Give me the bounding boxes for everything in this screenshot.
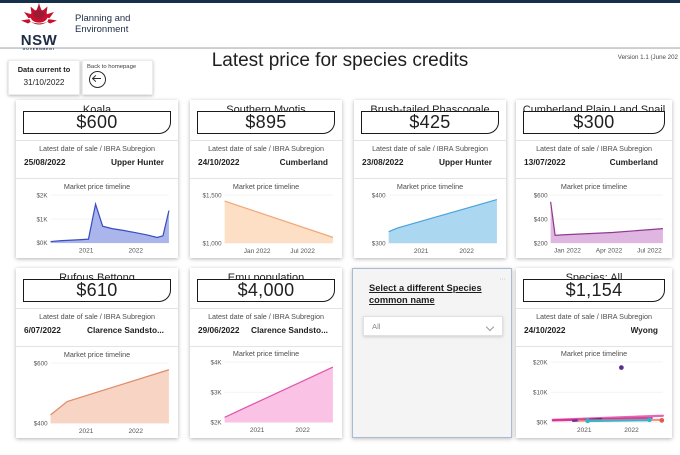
back-to-homepage-button[interactable]: Back to homepage [82, 60, 153, 95]
species-price-value: $610 [76, 280, 117, 301]
species-price-box: $610 [23, 279, 171, 302]
svg-text:$2K: $2K [210, 420, 222, 427]
species-card[interactable]: Brush-tailed Phascogale$425Latest date o… [354, 100, 506, 258]
svg-text:$200: $200 [534, 240, 548, 247]
svg-text:2021: 2021 [577, 427, 592, 434]
sale-row: 24/10/2022Wyong [516, 321, 672, 340]
department-line-1: Planning and [75, 13, 130, 24]
sale-date: 6/07/2022 [24, 325, 61, 335]
data-current-value: 31/10/2022 [9, 78, 79, 87]
svg-text:$10K: $10K [533, 390, 548, 397]
svg-text:Jul 2022: Jul 2022 [637, 247, 662, 254]
species-price-box: $1,154 [523, 279, 665, 302]
species-selector-panel[interactable]: ⋯ Select a different Species common name… [352, 268, 512, 438]
svg-text:2021: 2021 [79, 247, 94, 254]
sale-section-header: Latest date of sale / IBRA Subregion [516, 308, 672, 321]
chart-section-header: Market price timeline [190, 179, 342, 192]
svg-text:$0K: $0K [36, 240, 48, 247]
nsw-wordmark: NSW [21, 35, 58, 46]
species-card-title: Cumberland Plain Land Snail [516, 100, 672, 111]
svg-text:Jul 2022: Jul 2022 [290, 247, 315, 254]
ibra-subregion: Clarence Sandsto... [87, 325, 164, 335]
market-price-chart: $0K$10K$20K20212022 [516, 359, 672, 438]
chart-section-header: Market price timeline [354, 179, 506, 192]
sale-date: 25/08/2022 [24, 157, 66, 167]
svg-text:Jan 2022: Jan 2022 [244, 247, 271, 254]
svg-text:$20K: $20K [533, 360, 548, 367]
chevron-down-icon[interactable] [487, 324, 494, 328]
species-price-value: $895 [245, 112, 286, 133]
svg-text:$400: $400 [534, 216, 548, 223]
waratah-icon [17, 0, 61, 34]
species-card[interactable]: Emu population$4,000Latest date of sale … [190, 268, 342, 438]
sale-row: 25/08/2022Upper Hunter [16, 153, 178, 172]
svg-text:2022: 2022 [129, 427, 144, 434]
chart-section-header: Market price timeline [16, 347, 178, 360]
circle-left-arrow-icon[interactable] [89, 71, 106, 88]
market-price-chart: $200$400$600Jan 2022Apr 2022Jul 2022 [516, 192, 672, 258]
svg-text:$600: $600 [534, 192, 548, 199]
species-price-value: $4,000 [238, 280, 295, 301]
sale-section-header: Latest date of sale / IBRA Subregion [516, 140, 672, 153]
svg-text:$0K: $0K [536, 420, 548, 427]
sale-date: 24/10/2022 [198, 157, 240, 167]
sale-date: 24/10/2022 [524, 325, 566, 335]
sale-section-header: Latest date of sale / IBRA Subregion [16, 140, 178, 153]
species-price-value: $300 [573, 112, 614, 133]
sale-date: 13/07/2022 [524, 157, 566, 167]
svg-text:2022: 2022 [459, 247, 474, 254]
sale-row: 6/07/2022Clarence Sandsto... [16, 321, 178, 340]
sale-row: 29/06/2022Clarence Sandsto... [190, 321, 342, 340]
svg-text:2022: 2022 [624, 427, 639, 434]
ibra-subregion: Clarence Sandsto... [251, 325, 328, 335]
species-price-value: $600 [76, 112, 117, 133]
sale-date: 29/06/2022 [198, 325, 240, 335]
species-price-box: $425 [361, 111, 499, 134]
species-card-title: Brush-tailed Phascogale [354, 100, 506, 111]
species-dropdown[interactable]: All [363, 316, 503, 336]
header-divider [0, 47, 680, 48]
species-card-title: Species: All [516, 268, 672, 279]
sale-row: 13/07/2022Cumberland [516, 153, 672, 172]
svg-text:Jan 2022: Jan 2022 [554, 247, 581, 254]
chart-section-header: Market price timeline [516, 346, 672, 359]
svg-text:$3K: $3K [210, 390, 222, 397]
sale-section-header: Latest date of sale / IBRA Subregion [354, 140, 506, 153]
species-price-value: $425 [409, 112, 450, 133]
svg-text:2021: 2021 [414, 247, 429, 254]
brand-bar: NSW GOVERNMENT Planning and Environment [0, 0, 680, 49]
svg-text:2022: 2022 [295, 427, 310, 434]
data-current-label: Data current to [9, 65, 79, 74]
sale-row: 23/08/2022Upper Hunter [354, 153, 506, 172]
species-card[interactable]: Species: All$1,154Latest date of sale / … [516, 268, 672, 438]
species-selector-label: Select a different Species common name [369, 282, 494, 306]
species-price-box: $600 [23, 111, 171, 134]
species-card[interactable]: Southern Myotis$895Latest date of sale /… [190, 100, 342, 258]
market-price-chart: $2K$3K$4K20212022 [190, 359, 342, 438]
market-price-chart: $400$60020212022 [16, 360, 178, 438]
species-card-title: Southern Myotis [190, 100, 342, 111]
svg-text:2022: 2022 [129, 247, 144, 254]
svg-text:$1,500: $1,500 [203, 192, 223, 199]
nsw-logo: NSW GOVERNMENT [17, 0, 61, 52]
ibra-subregion: Cumberland [280, 157, 328, 167]
panel-more-options-icon[interactable]: ⋯ [500, 276, 507, 283]
species-card[interactable]: Koala$600Latest date of sale / IBRA Subr… [16, 100, 178, 258]
department-line-2: Environment [75, 24, 130, 35]
species-card-title: Emu population [190, 268, 342, 279]
department-name: Planning and Environment [75, 13, 130, 35]
chart-section-header: Market price timeline [516, 179, 672, 192]
species-card-title: Koala [16, 100, 178, 111]
svg-text:$400: $400 [372, 192, 386, 199]
svg-text:$600: $600 [34, 360, 48, 367]
svg-text:$1,000: $1,000 [203, 240, 223, 247]
svg-text:$400: $400 [34, 420, 48, 427]
species-price-value: $1,154 [566, 280, 623, 301]
species-price-box: $895 [197, 111, 335, 134]
ibra-subregion: Wyong [631, 325, 659, 335]
back-to-homepage-label: Back to homepage [87, 64, 152, 70]
species-card[interactable]: Cumberland Plain Land Snail$300Latest da… [516, 100, 672, 258]
svg-text:Apr 2022: Apr 2022 [596, 247, 623, 254]
sale-date: 23/08/2022 [362, 157, 404, 167]
version-label: Version 1.1 (June 202 [618, 54, 678, 61]
species-price-box: $300 [523, 111, 665, 134]
sale-section-header: Latest date of sale / IBRA Subregion [190, 308, 342, 321]
svg-text:$300: $300 [372, 240, 386, 247]
market-price-chart: $300$40020212022 [354, 192, 506, 258]
species-card-title: Rufous Bettong [16, 268, 178, 279]
species-card[interactable]: Rufous Bettong$610Latest date of sale / … [16, 268, 178, 438]
svg-text:$1K: $1K [36, 216, 48, 223]
market-price-chart: $1,000$1,500Jan 2022Jul 2022 [190, 192, 342, 258]
ibra-subregion: Upper Hunter [439, 157, 492, 167]
ibra-subregion: Upper Hunter [111, 157, 164, 167]
svg-text:2021: 2021 [250, 427, 265, 434]
species-price-box: $4,000 [197, 279, 335, 302]
species-dropdown-value: All [372, 322, 380, 331]
data-current-card: Data current to 31/10/2022 [8, 60, 80, 95]
sale-section-header: Latest date of sale / IBRA Subregion [16, 308, 178, 321]
svg-text:$4K: $4K [210, 360, 222, 367]
sale-section-header: Latest date of sale / IBRA Subregion [190, 140, 342, 153]
chart-section-header: Market price timeline [16, 179, 178, 192]
svg-text:$2K: $2K [36, 192, 48, 199]
svg-text:2021: 2021 [79, 427, 94, 434]
ibra-subregion: Cumberland [610, 157, 658, 167]
chart-section-header: Market price timeline [190, 346, 342, 359]
sale-row: 24/10/2022Cumberland [190, 153, 342, 172]
market-price-chart: $0K$1K$2K20212022 [16, 192, 178, 258]
